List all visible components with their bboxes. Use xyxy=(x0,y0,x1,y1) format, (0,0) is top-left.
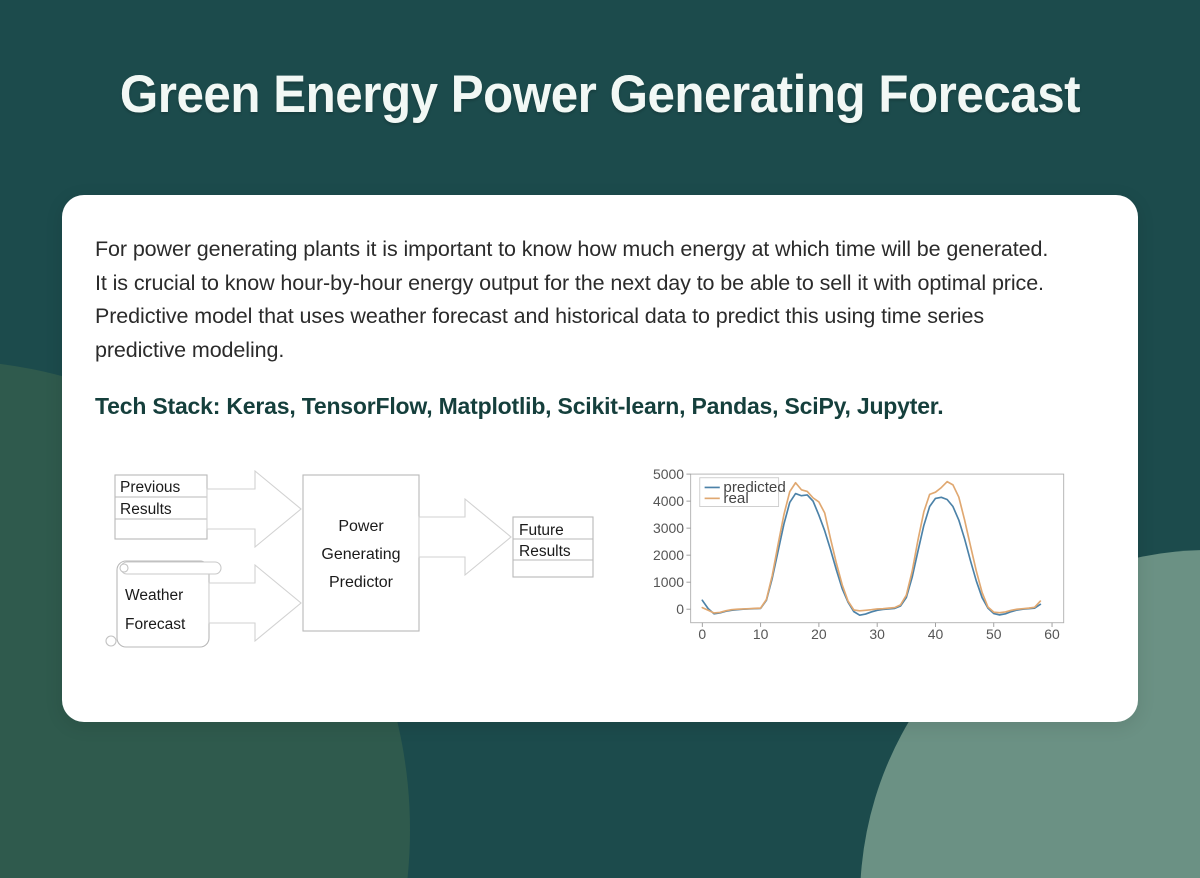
forecast-chart: 010002000300040005000 0102030405060 pred… xyxy=(648,465,1073,650)
future-results-label-line2: Results xyxy=(519,543,571,560)
previous-results-label-line2: Results xyxy=(120,501,172,518)
predictor-label-line2: Generating xyxy=(321,546,400,563)
paragraph-line: predictive modeling. xyxy=(95,334,1094,368)
tech-stack-line: Tech Stack: Keras, TensorFlow, Matplotli… xyxy=(95,393,1094,420)
weather-forecast-label-line1: Weather xyxy=(125,587,183,604)
chart-x-tick-label: 30 xyxy=(869,626,885,642)
paragraph-line: For power generating plants it is import… xyxy=(95,233,1094,267)
chart-x-tick-label: 40 xyxy=(928,626,944,642)
arrow-previous-to-predictor xyxy=(207,471,301,547)
chart-x-tick-label: 50 xyxy=(986,626,1002,642)
chart-y-tick-label: 0 xyxy=(676,601,684,617)
predictor-label-line3: Predictor xyxy=(329,574,394,591)
chart-y-tick-label: 2000 xyxy=(653,547,684,563)
weather-forecast-node xyxy=(106,561,221,647)
architecture-diagram: Previous Results Weather Forecast Power … xyxy=(95,457,615,657)
chart-x-tick-label: 0 xyxy=(698,626,706,642)
chart-x-tick-label: 20 xyxy=(811,626,827,642)
chart-y-tick-label: 3000 xyxy=(653,520,684,536)
chart-y-tick-label: 4000 xyxy=(653,493,684,509)
description-paragraph: For power generating plants it is import… xyxy=(95,233,1094,367)
arrow-weather-to-predictor xyxy=(209,565,301,641)
content-card: For power generating plants it is import… xyxy=(62,195,1138,722)
arrow-predictor-to-future xyxy=(419,499,511,575)
future-results-label-line1: Future xyxy=(519,522,564,539)
chart-x-tick-label: 10 xyxy=(753,626,769,642)
chart-x-tick-label: 60 xyxy=(1044,626,1060,642)
page-title: Green Energy Power Generating Forecast xyxy=(42,64,1158,125)
chart-legend: predictedreal xyxy=(700,478,786,507)
paragraph-line: It is crucial to know hour-by-hour energ… xyxy=(95,267,1094,301)
paragraph-line: Predictive model that uses weather forec… xyxy=(95,300,1094,334)
chart-legend-label: real xyxy=(723,490,748,507)
weather-forecast-label-line2: Forecast xyxy=(125,616,186,633)
chart-y-tick-label: 1000 xyxy=(653,574,684,590)
figures-row: Previous Results Weather Forecast Power … xyxy=(95,457,1105,667)
previous-results-label-line1: Previous xyxy=(120,479,181,496)
chart-y-tick-label: 5000 xyxy=(653,466,684,482)
predictor-label-line1: Power xyxy=(338,518,384,535)
